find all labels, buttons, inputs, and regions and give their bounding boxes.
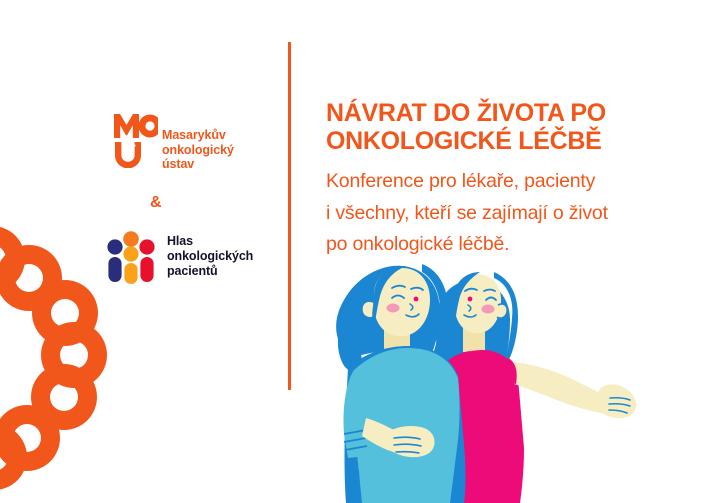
mou-logo: Masarykův onkologický ústav: [112, 112, 262, 172]
page-title: NÁVRAT DO ŽIVOTA PO ONKOLOGICKÉ LÉČBĚ: [326, 100, 682, 155]
logo-block: Masarykův onkologický ústav & Hla: [112, 112, 262, 284]
hlas-name-line-3: pacientů: [167, 264, 253, 279]
mou-name-line-2: onkologický: [162, 143, 234, 158]
subhead-line-3: po onkologické léčbě.: [326, 229, 686, 261]
headline-line-2: ONKOLOGICKÉ LÉČBĚ: [326, 128, 682, 156]
hlas-logo: Hlas onkologických pacientů: [104, 230, 262, 284]
hlas-name-line-1: Hlas: [167, 234, 253, 249]
subhead-line-1: Konference pro lékaře, pacienty: [326, 166, 686, 198]
mou-name-line-1: Masarykův: [162, 128, 234, 143]
mou-monogram-icon: [112, 112, 158, 168]
page-subtitle: Konference pro lékaře, pacienty i všechn…: [326, 166, 686, 261]
mou-wordmark: Masarykův onkologický ústav: [162, 128, 234, 172]
hlas-wordmark: Hlas onkologických pacientů: [167, 234, 253, 278]
subhead-line-2: i všechny, kteří se zajímají o život: [326, 198, 686, 230]
two-women-illustration: [318, 258, 648, 503]
conference-poster: Masarykův onkologický ústav & Hla: [0, 0, 710, 503]
mou-name-line-3: ústav: [162, 157, 234, 172]
hlas-people-icon: [104, 230, 158, 284]
hlas-name-line-2: onkologických: [167, 249, 253, 264]
logo-connector-ampersand: &: [150, 194, 262, 212]
headline-line-1: NÁVRAT DO ŽIVOTA PO: [326, 100, 682, 128]
vertical-divider: [288, 42, 291, 390]
left-woman: [336, 264, 465, 503]
